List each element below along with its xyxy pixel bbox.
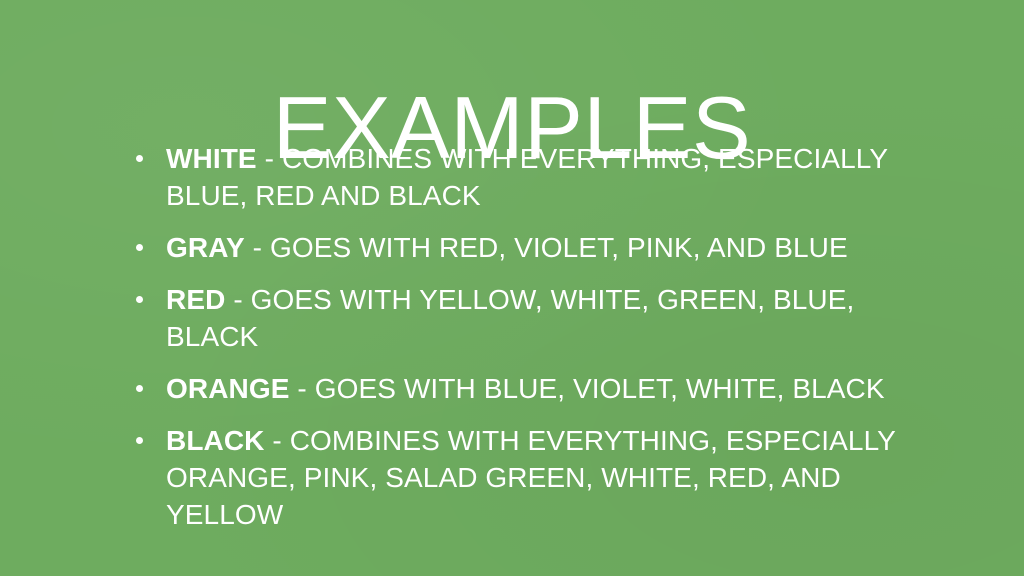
list-item: BLACK - COMBINES WITH EVERYTHING, ESPECI… (132, 422, 900, 533)
color-name-red: RED (166, 284, 225, 315)
examples-bullet-list: WHITE - COMBINES WITH EVERYTHING, ESPECI… (132, 140, 900, 533)
list-item: RED - GOES WITH YELLOW, WHITE, GREEN, BL… (132, 281, 900, 355)
color-description-gray: GOES WITH RED, VIOLET, PINK, AND BLUE (270, 232, 848, 263)
list-item: ORANGE - GOES WITH BLUE, VIOLET, WHITE, … (132, 370, 900, 407)
list-item: WHITE - COMBINES WITH EVERYTHING, ESPECI… (132, 140, 900, 214)
bullet-dot-icon (136, 244, 143, 251)
bullet-dot-icon (136, 437, 143, 444)
separator-dash: - (297, 373, 306, 404)
color-name-orange: ORANGE (166, 373, 290, 404)
color-name-white: WHITE (166, 143, 257, 174)
bullet-dot-icon (136, 155, 143, 162)
bullet-dot-icon (136, 296, 143, 303)
color-description-orange: GOES WITH BLUE, VIOLET, WHITE, BLACK (315, 373, 885, 404)
separator-dash: - (253, 232, 262, 263)
bullet-dot-icon (136, 385, 143, 392)
color-description-red: GOES WITH YELLOW, WHITE, GREEN, BLUE, BL… (166, 284, 854, 352)
separator-dash: - (265, 143, 274, 174)
presentation-slide: EXAMPLES WHITE - COMBINES WITH EVERYTHIN… (0, 0, 1024, 576)
color-name-gray: GRAY (166, 232, 245, 263)
color-description-white: COMBINES WITH EVERYTHING, ESPECIALLY BLU… (166, 143, 888, 211)
separator-dash: - (233, 284, 242, 315)
color-name-black: BLACK (166, 425, 265, 456)
separator-dash: - (272, 425, 281, 456)
list-item: GRAY - GOES WITH RED, VIOLET, PINK, AND … (132, 229, 900, 266)
